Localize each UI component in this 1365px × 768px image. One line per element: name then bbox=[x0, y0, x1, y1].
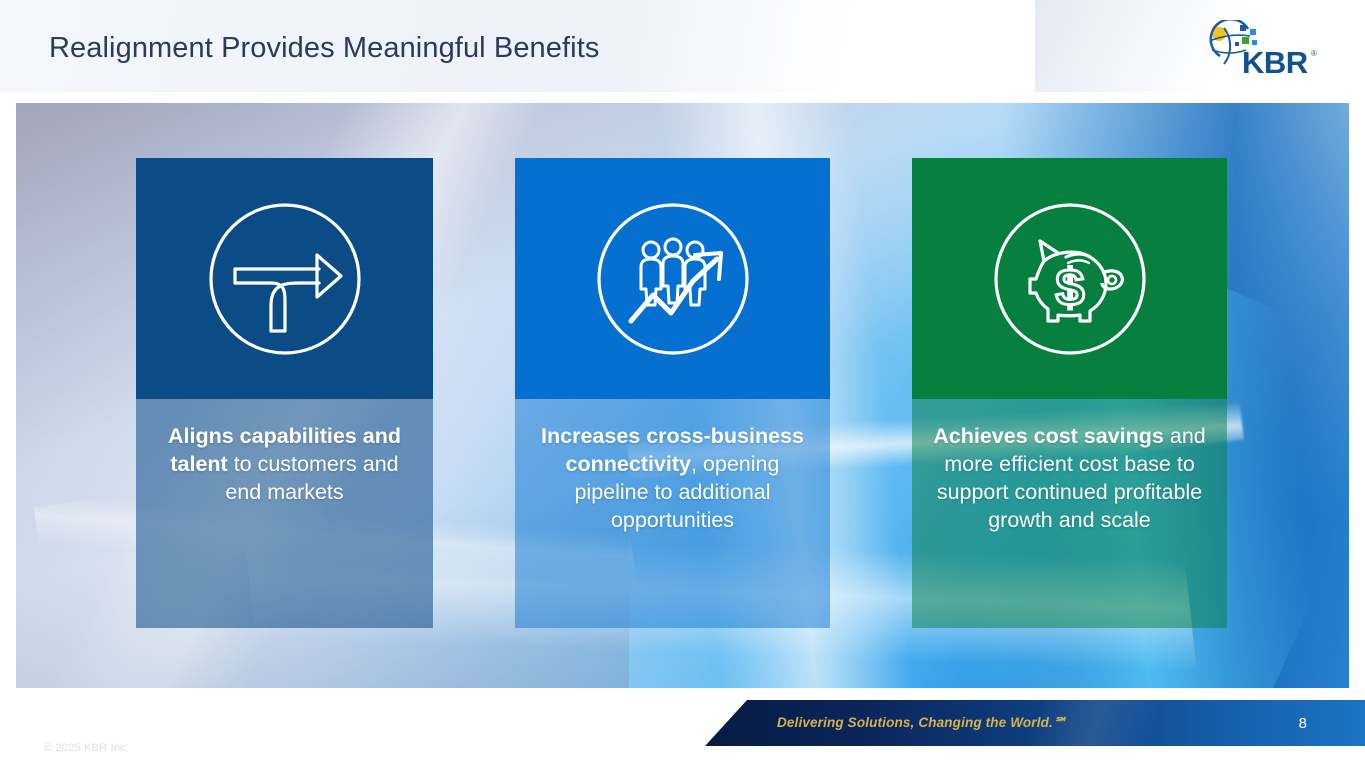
card-icon-area bbox=[515, 158, 830, 399]
card-icon-area: $ bbox=[912, 158, 1227, 399]
content-panel: Aligns capabilities and talent to custom… bbox=[16, 103, 1349, 688]
svg-text:KBR: KBR bbox=[1242, 45, 1308, 80]
benefit-cards: Aligns capabilities and talent to custom… bbox=[16, 103, 1349, 688]
card-text: Achieves cost savings and more efficient… bbox=[912, 399, 1227, 628]
card-icon-area bbox=[136, 158, 433, 399]
card-text: Aligns capabilities and talent to custom… bbox=[136, 399, 433, 628]
slide-footer: Delivering Solutions, Changing the World… bbox=[0, 700, 1365, 746]
benefit-card-aligns-capabilities: Aligns capabilities and talent to custom… bbox=[136, 158, 433, 628]
slide-header: Realignment Provides Meaningful Benefits… bbox=[0, 0, 1365, 92]
footer-tagline: Delivering Solutions, Changing the World… bbox=[777, 715, 1067, 731]
benefit-card-cost-savings: $ Achieves cost savings and more efficie… bbox=[912, 158, 1227, 628]
card-text-bold: Achieves cost savings bbox=[933, 424, 1164, 448]
people-growth-chart-icon bbox=[589, 195, 757, 363]
merging-arrow-icon bbox=[201, 195, 369, 363]
slide: Realignment Provides Meaningful Benefits… bbox=[0, 0, 1365, 768]
card-text-rest: to customers and end markets bbox=[225, 452, 398, 504]
kbr-logo-icon: KBR ® bbox=[1202, 20, 1317, 82]
kbr-logo: KBR ® bbox=[1202, 20, 1317, 82]
header-divider bbox=[0, 92, 1365, 103]
piggy-bank-dollar-icon: $ bbox=[986, 195, 1154, 363]
page-title: Realignment Provides Meaningful Benefits bbox=[49, 32, 599, 65]
card-text: Increases cross-business connectivity, o… bbox=[515, 399, 830, 628]
footer-tagline-wrap: Delivering Solutions, Changing the World… bbox=[705, 700, 1365, 746]
page-number: 8 bbox=[1299, 700, 1307, 746]
svg-text:®: ® bbox=[1311, 49, 1317, 58]
svg-text:$: $ bbox=[1055, 259, 1084, 317]
copyright-notice: © 2025 KBR Inc. bbox=[44, 742, 129, 754]
benefit-card-cross-business-connectivity: Increases cross-business connectivity, o… bbox=[515, 158, 830, 628]
